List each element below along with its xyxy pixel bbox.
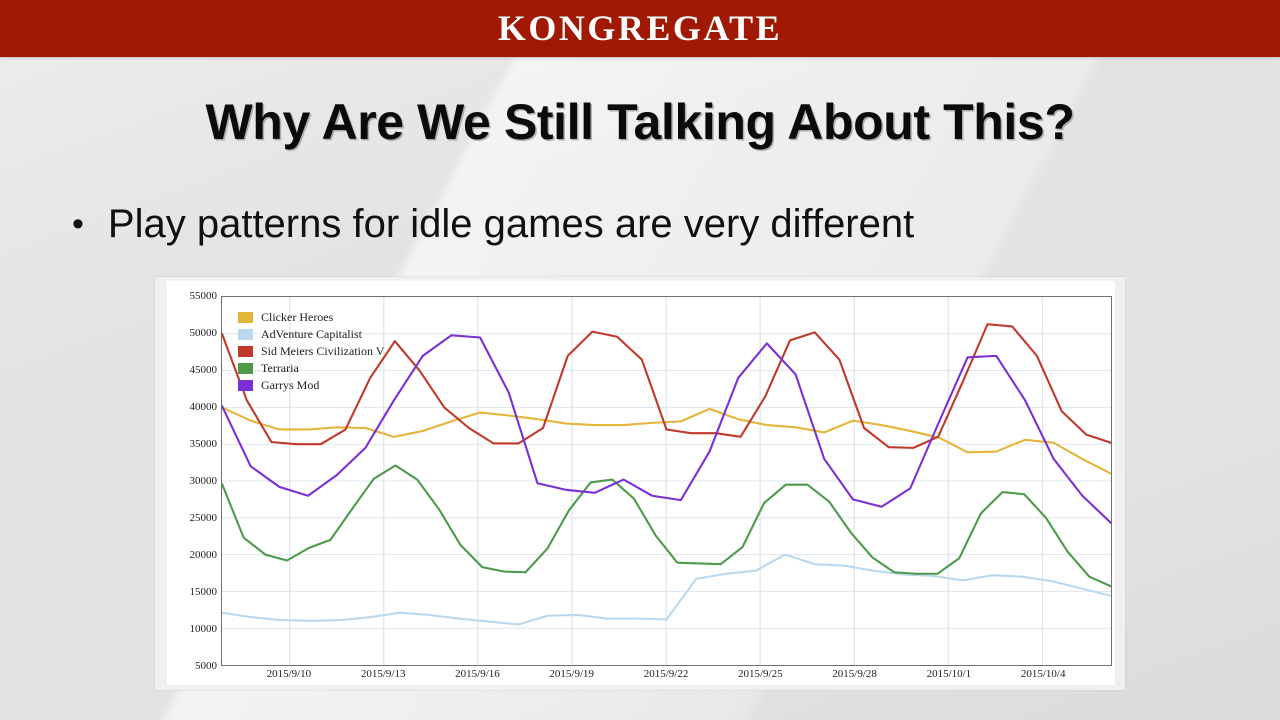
chart-legend-swatch-icon: [238, 346, 253, 357]
chart-y-tick-label: 20000: [190, 549, 218, 561]
chart-y-tick-label: 55000: [190, 290, 218, 302]
chart-x-tick-label: 2015/9/22: [644, 668, 689, 680]
chart-x-tick-label: 2015/9/10: [267, 668, 312, 680]
chart-legend-item: Sid Meiers Civilization V: [238, 344, 384, 358]
chart-legend-label: Garrys Mod: [261, 378, 319, 393]
chart-y-tick-label: 10000: [190, 623, 218, 635]
chart-x-tick-label: 2015/9/19: [549, 668, 594, 680]
chart-y-tick-label: 50000: [190, 327, 218, 339]
chart-legend-item: Terraria: [238, 361, 384, 375]
chart-x-tick-label: 2015/9/28: [832, 668, 877, 680]
chart-plot-area: Clicker HeroesAdVenture CapitalistSid Me…: [221, 296, 1112, 666]
chart-y-tick-label: 35000: [190, 438, 218, 450]
chart-y-tick-label: 45000: [190, 364, 218, 376]
chart-x-tick-label: 2015/10/4: [1021, 668, 1066, 680]
bullet-list: • Play patterns for idle games are very …: [72, 196, 1192, 252]
chart-x-tick-label: 2015/10/1: [927, 668, 972, 680]
header-banner: KONGREGATE: [0, 0, 1280, 57]
slide-root: KONGREGATE Why Are We Still Talking Abou…: [0, 0, 1280, 720]
chart-legend-item: Garrys Mod: [238, 378, 384, 392]
chart-legend-swatch-icon: [238, 329, 253, 340]
chart-x-axis: 2015/9/102015/9/132015/9/162015/9/192015…: [221, 668, 1112, 688]
chart-x-tick-label: 2015/9/13: [361, 668, 406, 680]
page-title: Why Are We Still Talking About This?: [0, 93, 1280, 151]
chart-legend-swatch-icon: [238, 380, 253, 391]
chart-image-frame: 5500050000450004000035000300002500020000…: [155, 277, 1125, 690]
chart-x-tick-label: 2015/9/16: [455, 668, 500, 680]
bullet-marker-icon: •: [72, 196, 84, 252]
chart-x-tick-label: 2015/9/25: [738, 668, 783, 680]
chart-legend-item: AdVenture Capitalist: [238, 327, 384, 341]
brand-logo-kongregate: KONGREGATE: [498, 10, 782, 48]
chart-legend-swatch-icon: [238, 312, 253, 323]
chart-canvas: 5500050000450004000035000300002500020000…: [167, 281, 1115, 685]
chart-y-tick-label: 25000: [190, 512, 218, 524]
chart-legend: Clicker HeroesAdVenture CapitalistSid Me…: [238, 310, 384, 392]
chart-y-tick-label: 15000: [190, 586, 218, 598]
chart-legend-swatch-icon: [238, 363, 253, 374]
bullet-item-text: Play patterns for idle games are very di…: [108, 196, 914, 252]
chart-y-tick-label: 40000: [190, 401, 218, 413]
chart-y-tick-label: 30000: [190, 475, 218, 487]
chart-y-tick-label: 5000: [195, 660, 217, 672]
chart-legend-label: AdVenture Capitalist: [261, 327, 362, 342]
chart-y-axis: 5500050000450004000035000300002500020000…: [167, 296, 217, 666]
chart-legend-label: Terraria: [261, 361, 299, 376]
chart-legend-label: Sid Meiers Civilization V: [261, 344, 384, 359]
chart-legend-label: Clicker Heroes: [261, 310, 333, 325]
chart-legend-item: Clicker Heroes: [238, 310, 384, 324]
